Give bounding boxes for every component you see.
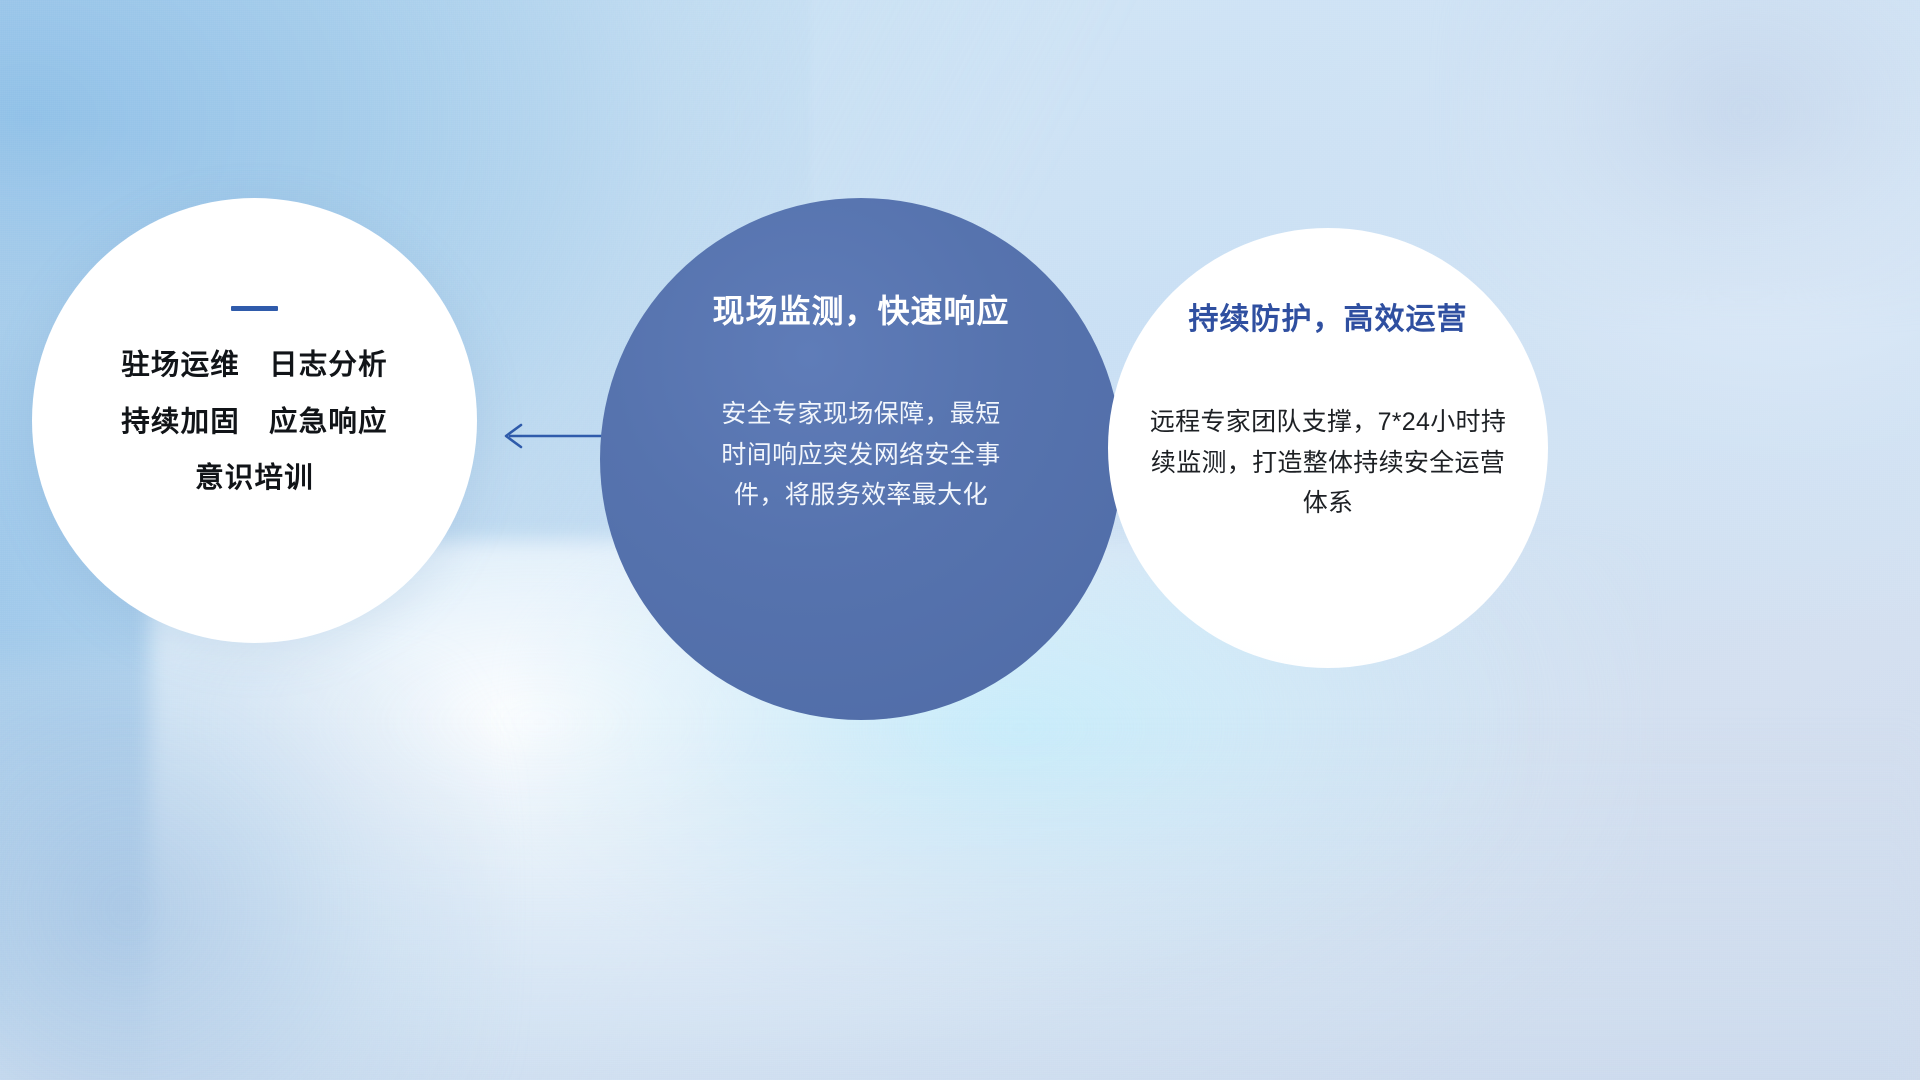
keyword-row: 意识培训 bbox=[195, 464, 314, 493]
middle-card-body: 安全专家现场保障，最短时间响应突发网络安全事件，将服务效率最大化 bbox=[711, 394, 1011, 516]
right-card-body: 远程专家团队支撑，7*24小时持续监测，打造整体持续安全运营体系 bbox=[1143, 402, 1513, 524]
keyword-divider bbox=[231, 306, 278, 311]
right-card-title: 持续防护，高效运营 bbox=[1189, 294, 1468, 338]
keyword-item: 日志分析 bbox=[269, 351, 388, 380]
keyword-row: 持续加固 应急响应 bbox=[121, 408, 388, 437]
keyword-row: 驻场运维 日志分析 bbox=[121, 351, 388, 380]
left-keyword-circle: 驻场运维 日志分析 持续加固 应急响应 意识培训 bbox=[32, 198, 477, 643]
keyword-item: 驻场运维 bbox=[121, 351, 240, 380]
middle-highlight-circle: 现场监测，快速响应 安全专家现场保障，最短时间响应突发网络安全事件，将服务效率最… bbox=[600, 198, 1122, 720]
keyword-item: 持续加固 bbox=[121, 408, 240, 437]
middle-card-title: 现场监测，快速响应 bbox=[712, 286, 1009, 332]
keyword-item: 应急响应 bbox=[269, 408, 388, 437]
keyword-item: 意识培训 bbox=[195, 464, 314, 493]
right-info-circle: 持续防护，高效运营 远程专家团队支撑，7*24小时持续监测，打造整体持续安全运营… bbox=[1108, 228, 1548, 668]
